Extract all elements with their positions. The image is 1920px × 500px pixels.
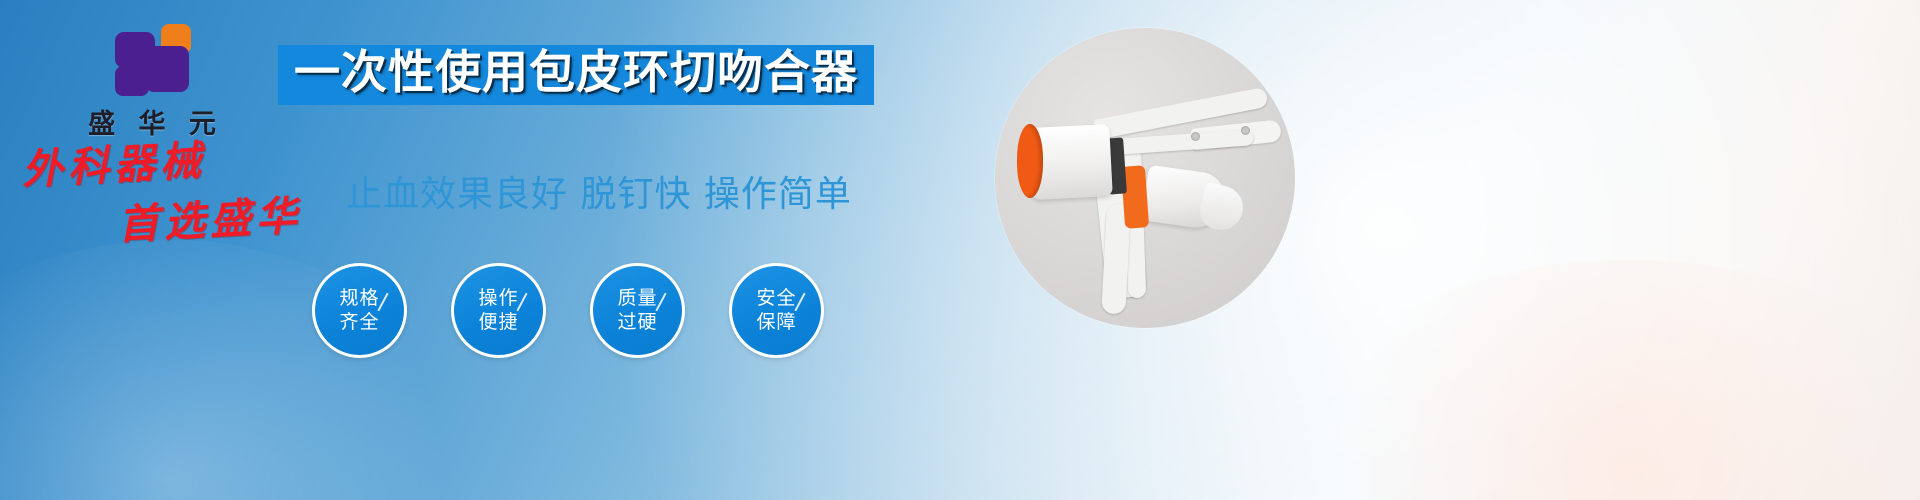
feature-badge-line-2: 过硬	[617, 311, 657, 334]
device-orange-ring	[1017, 124, 1043, 198]
feature-badge-line-2: 保障	[756, 311, 796, 334]
calligraphy-line-1: 外科器械	[21, 133, 353, 191]
feature-badge-list: 规格 齐全 操作 便捷 质量 过硬 安全 保障	[312, 263, 824, 358]
feature-badge-line-1: 规格	[339, 287, 379, 310]
device-hinge	[1241, 126, 1250, 135]
background-glow-right	[1280, 260, 1920, 500]
subtitle-text: 止血效果良好 脱钉快 操作简单	[346, 165, 852, 217]
brand-logo[interactable]: 盛 华 元	[62, 24, 242, 141]
device-tip	[1196, 182, 1247, 235]
feature-badge-line-2: 齐全	[339, 311, 379, 334]
feature-badge-line-2: 便捷	[478, 311, 518, 334]
calligraphy-slogan: 外科器械 首选盛华	[22, 150, 352, 246]
calligraphy-line-2: 首选盛华	[117, 193, 353, 246]
feature-badge-line-1: 质量	[617, 287, 657, 310]
product-photo	[995, 28, 1295, 328]
brand-name-label: 盛 华 元	[62, 102, 242, 141]
feature-badge[interactable]: 质量 过硬	[590, 263, 685, 358]
page-title: 一次性使用包皮环切吻合器	[294, 49, 858, 97]
feature-badge[interactable]: 操作 便捷	[451, 263, 546, 358]
feature-badge[interactable]: 安全 保障	[729, 263, 824, 358]
device-hinge	[1191, 132, 1200, 141]
feature-badge-line-1: 安全	[756, 287, 796, 310]
feature-badge-line-1: 操作	[478, 287, 518, 310]
main-title-banner: 一次性使用包皮环切吻合器	[278, 45, 874, 105]
feature-badge[interactable]: 规格 齐全	[312, 263, 407, 358]
logo-square-center	[145, 46, 189, 92]
logo-square-bottom-left	[115, 66, 149, 96]
logo-mark-icon	[115, 24, 189, 96]
